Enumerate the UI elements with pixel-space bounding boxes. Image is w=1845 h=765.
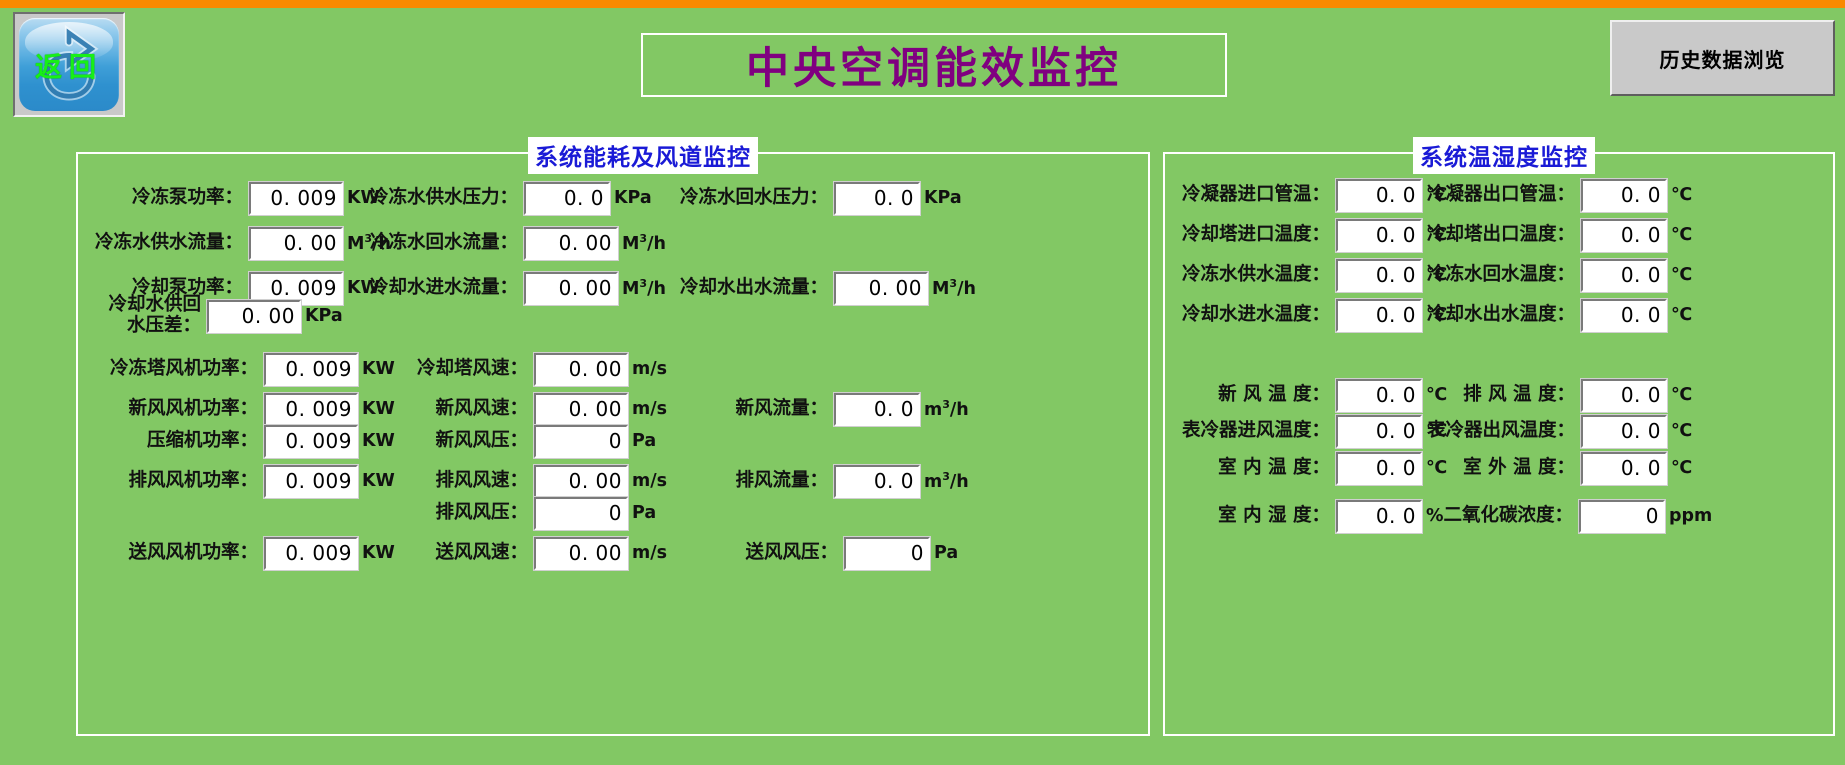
field-value-input[interactable]: 0. 009 <box>264 353 358 386</box>
field-value-input[interactable]: 0. 0 <box>1336 299 1422 332</box>
field-value-input[interactable]: 0. 00 <box>249 227 343 260</box>
field-unit: KPa <box>610 188 652 208</box>
field-row: 表冷器进风温度：0. 0℃ <box>1175 414 1447 448</box>
field-label: 冷却塔出口温度： <box>1420 225 1581 246</box>
field-row: 冷冻水回水温度：0. 0℃ <box>1420 258 1692 292</box>
field-row: 冷却水供回水压差：0. 00KPa <box>96 299 343 333</box>
field-label: 送风风机功率： <box>108 543 264 564</box>
field-label: 表冷器出风温度： <box>1420 421 1581 442</box>
field-label: 新风流量： <box>718 399 834 420</box>
field-value-input[interactable]: 0. 0 <box>834 393 920 426</box>
field-label: 冷冻泵功率： <box>108 188 249 209</box>
field-unit: ℃ <box>1667 458 1692 478</box>
field-label: 送风风速： <box>408 543 534 564</box>
field-unit: KW <box>358 471 395 491</box>
field-unit: Pa <box>628 503 656 523</box>
field-label: 新风风机功率： <box>108 399 264 420</box>
energy-and-duct-monitoring-panel: 系统能耗及风道监控 冷冻泵功率：0. 009KW冷冻水供水压力：0. 0KPa冷… <box>76 152 1150 736</box>
field-label: 表冷器进风温度： <box>1175 421 1336 442</box>
field-label: 送风风压： <box>718 543 844 564</box>
field-label: 冷却水供回水压差： <box>96 295 207 336</box>
field-value-input[interactable]: 0. 0 <box>1336 415 1422 448</box>
field-row: 新风风机功率：0. 009KW <box>108 392 395 426</box>
back-button[interactable]: 返回 <box>13 12 125 117</box>
back-button-label: 返回 <box>19 45 119 84</box>
field-value-input[interactable]: 0. 0 <box>1581 452 1667 485</box>
field-row: 冷却水出水流量：0. 00M3/h <box>673 271 976 305</box>
field-row: 冷冻水供水温度：0. 0℃ <box>1175 258 1447 292</box>
field-label: 冷冻水回水温度： <box>1420 265 1581 286</box>
field-row: 冷冻水供水流量：0. 00M3/h <box>88 226 391 260</box>
field-value-input[interactable]: 0. 0 <box>1581 179 1667 212</box>
field-value-input[interactable]: 0 <box>534 425 628 458</box>
field-unit: M3/h <box>618 232 666 254</box>
field-value-input[interactable]: 0. 0 <box>1336 219 1422 252</box>
field-label: 冷冻塔风机功率： <box>98 359 264 380</box>
field-label: 室 内 温 度： <box>1175 458 1336 479</box>
field-value-input[interactable]: 0. 0 <box>834 465 920 498</box>
panel-legend-energy: 系统能耗及风道监控 <box>528 137 758 174</box>
field-unit: M3/h <box>928 277 976 299</box>
field-row: 二氧化碳浓度：0ppm <box>1408 499 1712 533</box>
field-unit: KW <box>358 399 395 419</box>
field-value-input[interactable]: 0. 00 <box>524 227 618 260</box>
field-label: 室 外 温 度： <box>1420 458 1581 479</box>
field-value-input[interactable]: 0. 00 <box>207 300 301 333</box>
field-unit: ℃ <box>1667 305 1692 325</box>
field-row: 新风风速：0. 00m/s <box>418 392 667 426</box>
field-label: 新风风压： <box>418 431 534 452</box>
field-unit: KPa <box>301 306 343 326</box>
field-value-input[interactable]: 0. 0 <box>1581 379 1667 412</box>
field-value-input[interactable]: 0. 0 <box>1581 219 1667 252</box>
field-value-input[interactable]: 0. 0 <box>834 182 920 215</box>
field-value-input[interactable]: 0 <box>534 497 628 530</box>
field-unit: m3/h <box>920 470 969 492</box>
field-value-input[interactable]: 0. 00 <box>534 393 628 426</box>
field-row: 送风风速：0. 00m/s <box>408 536 667 570</box>
field-label: 新风风速： <box>418 399 534 420</box>
field-unit: ppm <box>1665 506 1712 526</box>
field-value-input[interactable]: 0. 00 <box>834 272 928 305</box>
field-value-input[interactable]: 0. 00 <box>534 537 628 570</box>
field-unit: ℃ <box>1667 421 1692 441</box>
field-label: 排风风速： <box>418 471 534 492</box>
field-unit: m/s <box>628 543 667 563</box>
field-label: 排 风 温 度： <box>1420 385 1581 406</box>
field-row: 室 外 温 度：0. 0℃ <box>1420 451 1692 485</box>
field-label: 二氧化碳浓度： <box>1408 506 1579 527</box>
field-row: 送风风机功率：0. 009KW <box>108 536 395 570</box>
field-value-input[interactable]: 0. 009 <box>264 425 358 458</box>
application-window: 返回 中央空调能效监控 历史数据浏览 系统能耗及风道监控 冷冻泵功率：0. 00… <box>0 0 1845 765</box>
field-row: 冷冻水回水流量：0. 00M3/h <box>363 226 666 260</box>
field-label: 冷凝器出口管温： <box>1420 185 1581 206</box>
field-row: 室 内 湿 度：0. 0% <box>1175 499 1444 533</box>
field-row: 冷冻塔风机功率：0. 009KW <box>98 352 395 386</box>
field-unit: ℃ <box>1667 265 1692 285</box>
field-unit: ℃ <box>1667 225 1692 245</box>
field-row: 排风流量：0. 0m3/h <box>718 464 969 498</box>
field-value-input[interactable]: 0. 0 <box>1336 259 1422 292</box>
field-unit: KW <box>358 359 395 379</box>
field-label: 冷冻水回水流量： <box>363 233 524 254</box>
field-row: 排风风速：0. 00m/s <box>418 464 667 498</box>
field-value-input[interactable]: 0. 00 <box>534 465 628 498</box>
field-value-input[interactable]: 0 <box>844 537 930 570</box>
field-value-input[interactable]: 0. 0 <box>1581 299 1667 332</box>
field-label: 冷凝器进口管温： <box>1175 185 1336 206</box>
field-value-input[interactable]: 0. 009 <box>264 465 358 498</box>
field-label: 冷却塔进口温度： <box>1175 225 1336 246</box>
field-row: 冷却水出水温度：0. 0℃ <box>1420 298 1692 332</box>
field-label: 冷冻水供水温度： <box>1175 265 1336 286</box>
field-label: 冷却塔风速： <box>398 359 534 380</box>
field-value-input[interactable]: 0. 0 <box>1581 259 1667 292</box>
field-unit: m3/h <box>920 398 969 420</box>
field-unit: Pa <box>930 543 958 563</box>
field-value-input[interactable]: 0. 009 <box>264 537 358 570</box>
field-row: 排 风 温 度：0. 0℃ <box>1420 378 1692 412</box>
page-title: 中央空调能效监控 <box>641 33 1227 97</box>
field-label: 冷冻水供水压力： <box>363 188 524 209</box>
field-row: 排风风机功率：0. 009KW <box>108 464 395 498</box>
field-row: 送风风压：0Pa <box>718 536 958 570</box>
field-row: 冷凝器进口管温：0. 0℃ <box>1175 178 1447 212</box>
field-label: 冷冻水回水压力： <box>673 188 834 209</box>
field-row: 冷却塔进口温度：0. 0℃ <box>1175 218 1447 252</box>
panel-legend-temp-humidity: 系统温湿度监控 <box>1413 137 1595 174</box>
field-row: 冷冻水供水压力：0. 0KPa <box>363 181 652 215</box>
field-row: 冷却塔风速：0. 00m/s <box>398 352 667 386</box>
field-unit: m/s <box>628 399 667 419</box>
field-row: 冷却水进水温度：0. 0℃ <box>1175 298 1447 332</box>
field-value-input[interactable]: 0. 0 <box>1336 179 1422 212</box>
field-value-input[interactable]: 0 <box>1579 500 1665 533</box>
field-label: 排风风压： <box>418 503 534 524</box>
field-value-input[interactable]: 0. 00 <box>524 272 618 305</box>
history-data-browse-label: 历史数据浏览 <box>1660 44 1786 73</box>
field-row: 冷却塔出口温度：0. 0℃ <box>1420 218 1692 252</box>
field-label: 冷却水进水流量： <box>363 278 524 299</box>
field-unit: ℃ <box>1667 185 1692 205</box>
field-label: 冷却水出水流量： <box>673 278 834 299</box>
field-unit: M3/h <box>618 277 666 299</box>
field-row: 新风流量：0. 0m3/h <box>718 392 969 426</box>
field-value-input[interactable]: 0. 00 <box>534 353 628 386</box>
accent-strip <box>0 0 1845 8</box>
field-label: 新 风 温 度： <box>1175 385 1336 406</box>
field-unit: KPa <box>920 188 962 208</box>
field-value-input[interactable]: 0. 0 <box>524 182 610 215</box>
field-unit: Pa <box>628 431 656 451</box>
field-value-input[interactable]: 0. 0 <box>1581 415 1667 448</box>
field-unit: m/s <box>628 471 667 491</box>
field-value-input[interactable]: 0. 0 <box>1336 452 1422 485</box>
field-value-input[interactable]: 0. 0 <box>1336 379 1422 412</box>
field-value-input[interactable]: 0. 009 <box>264 393 358 426</box>
field-row: 冷凝器出口管温：0. 0℃ <box>1420 178 1692 212</box>
field-row: 排风风压：0Pa <box>418 496 656 530</box>
field-unit: m/s <box>628 359 667 379</box>
field-row: 冷却水进水流量：0. 00M3/h <box>363 271 666 305</box>
field-row: 新 风 温 度：0. 0℃ <box>1175 378 1447 412</box>
field-row: 表冷器出风温度：0. 0℃ <box>1420 414 1692 448</box>
field-row: 压缩机功率：0. 009KW <box>128 424 395 458</box>
page-title-text: 中央空调能效监控 <box>746 34 1122 96</box>
field-label: 排风流量： <box>718 471 834 492</box>
field-label: 室 内 湿 度： <box>1175 506 1336 527</box>
back-button-face: 返回 <box>19 18 119 111</box>
field-row: 室 内 温 度：0. 0℃ <box>1175 451 1447 485</box>
field-value-input[interactable]: 0. 009 <box>249 182 343 215</box>
field-unit: KW <box>358 431 395 451</box>
field-row: 冷冻水回水压力：0. 0KPa <box>673 181 962 215</box>
field-unit: ℃ <box>1667 385 1692 405</box>
field-label: 冷冻水供水流量： <box>88 233 249 254</box>
field-label: 排风风机功率： <box>108 471 264 492</box>
temperature-humidity-monitoring-panel: 系统温湿度监控 冷凝器进口管温：0. 0℃冷凝器出口管温：0. 0℃冷却塔进口温… <box>1163 152 1835 736</box>
field-row: 新风风压：0Pa <box>418 424 656 458</box>
history-data-browse-button[interactable]: 历史数据浏览 <box>1610 20 1835 96</box>
field-label: 冷却水出水温度： <box>1420 305 1581 326</box>
field-label: 压缩机功率： <box>128 431 264 452</box>
field-label: 冷却水进水温度： <box>1175 305 1336 326</box>
field-row: 冷冻泵功率：0. 009KW <box>108 181 380 215</box>
field-unit: KW <box>358 543 395 563</box>
